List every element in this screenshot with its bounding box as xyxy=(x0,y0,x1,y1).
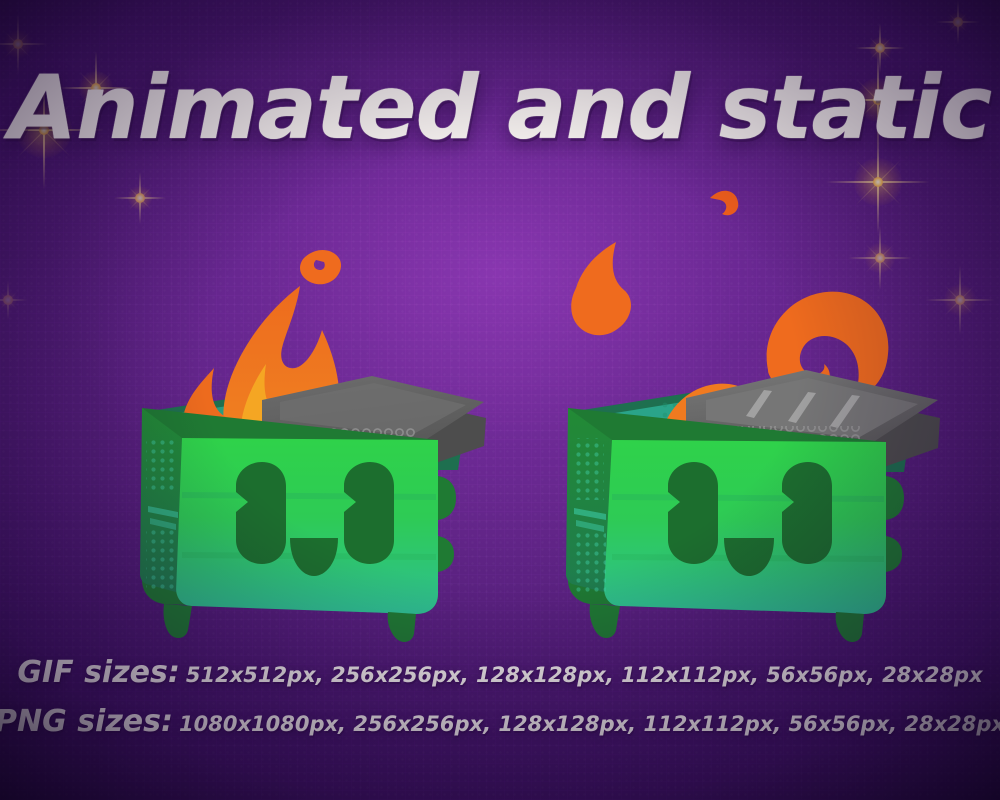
static-dumpster-fire-illustration xyxy=(520,180,940,650)
gif-sizes-line: GIF sizes: 512x512px, 256x256px, 128x128… xyxy=(0,655,1000,690)
right-eye xyxy=(782,462,832,564)
flame-tendril-left xyxy=(571,242,631,335)
page-title: Animated and static xyxy=(0,62,1000,154)
png-sizes-values: 1080x1080px, 256x256px, 128x128px, 112x1… xyxy=(179,712,1000,736)
sparkle-star xyxy=(114,172,166,224)
dumpster-body xyxy=(566,408,904,614)
dumpster-body xyxy=(140,408,456,614)
sparkle-star xyxy=(936,0,980,44)
ember-small xyxy=(710,191,738,215)
gif-sizes-label: GIF sizes: xyxy=(17,655,180,690)
animated-dumpster-fire-illustration xyxy=(86,240,486,650)
ember xyxy=(300,250,341,284)
right-eye xyxy=(344,462,394,564)
left-eye xyxy=(236,462,286,564)
png-sizes-line: PNG sizes: 1080x1080px, 256x256px, 128x1… xyxy=(0,704,1000,739)
sparkle-star xyxy=(0,280,28,320)
gif-sizes-values: 512x512px, 256x256px, 128x128px, 112x112… xyxy=(186,663,983,687)
left-eye xyxy=(668,462,718,564)
size-list: GIF sizes: 512x512px, 256x256px, 128x128… xyxy=(0,655,1000,739)
poster-canvas: Animated and static xyxy=(0,0,1000,800)
png-sizes-label: PNG sizes: xyxy=(0,704,173,739)
